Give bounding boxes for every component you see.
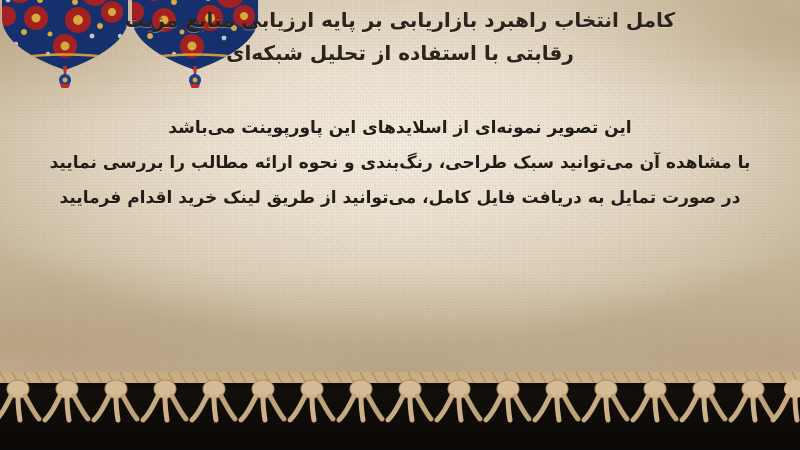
body-line-1: این تصویر نمونه‌ای از اسلایدهای این پاور… bbox=[34, 112, 766, 144]
slide-text-layer: کامل انتخاب راهبرد بازاریابی بر پایه ارز… bbox=[0, 0, 800, 372]
slide-title: کامل انتخاب راهبرد بازاریابی بر پایه ارز… bbox=[0, 4, 800, 70]
title-line-2: رقابتی با استفاده از تحلیل شبکه‌ای bbox=[26, 37, 774, 70]
body-line-2: با مشاهده آن می‌توانید سبک طراحی، رنگ‌بن… bbox=[34, 147, 766, 179]
slide-canvas: کامل انتخاب راهبرد بازاریابی بر پایه ارز… bbox=[0, 0, 800, 450]
carpet-dark-band bbox=[0, 372, 800, 450]
body-line-3: در صورت تمایل به دریافت فایل کامل، می‌تو… bbox=[34, 182, 766, 214]
slide-body: این تصویر نمونه‌ای از اسلایدهای این پاور… bbox=[0, 112, 800, 214]
title-line-1: کامل انتخاب راهبرد بازاریابی بر پایه ارز… bbox=[26, 4, 774, 37]
